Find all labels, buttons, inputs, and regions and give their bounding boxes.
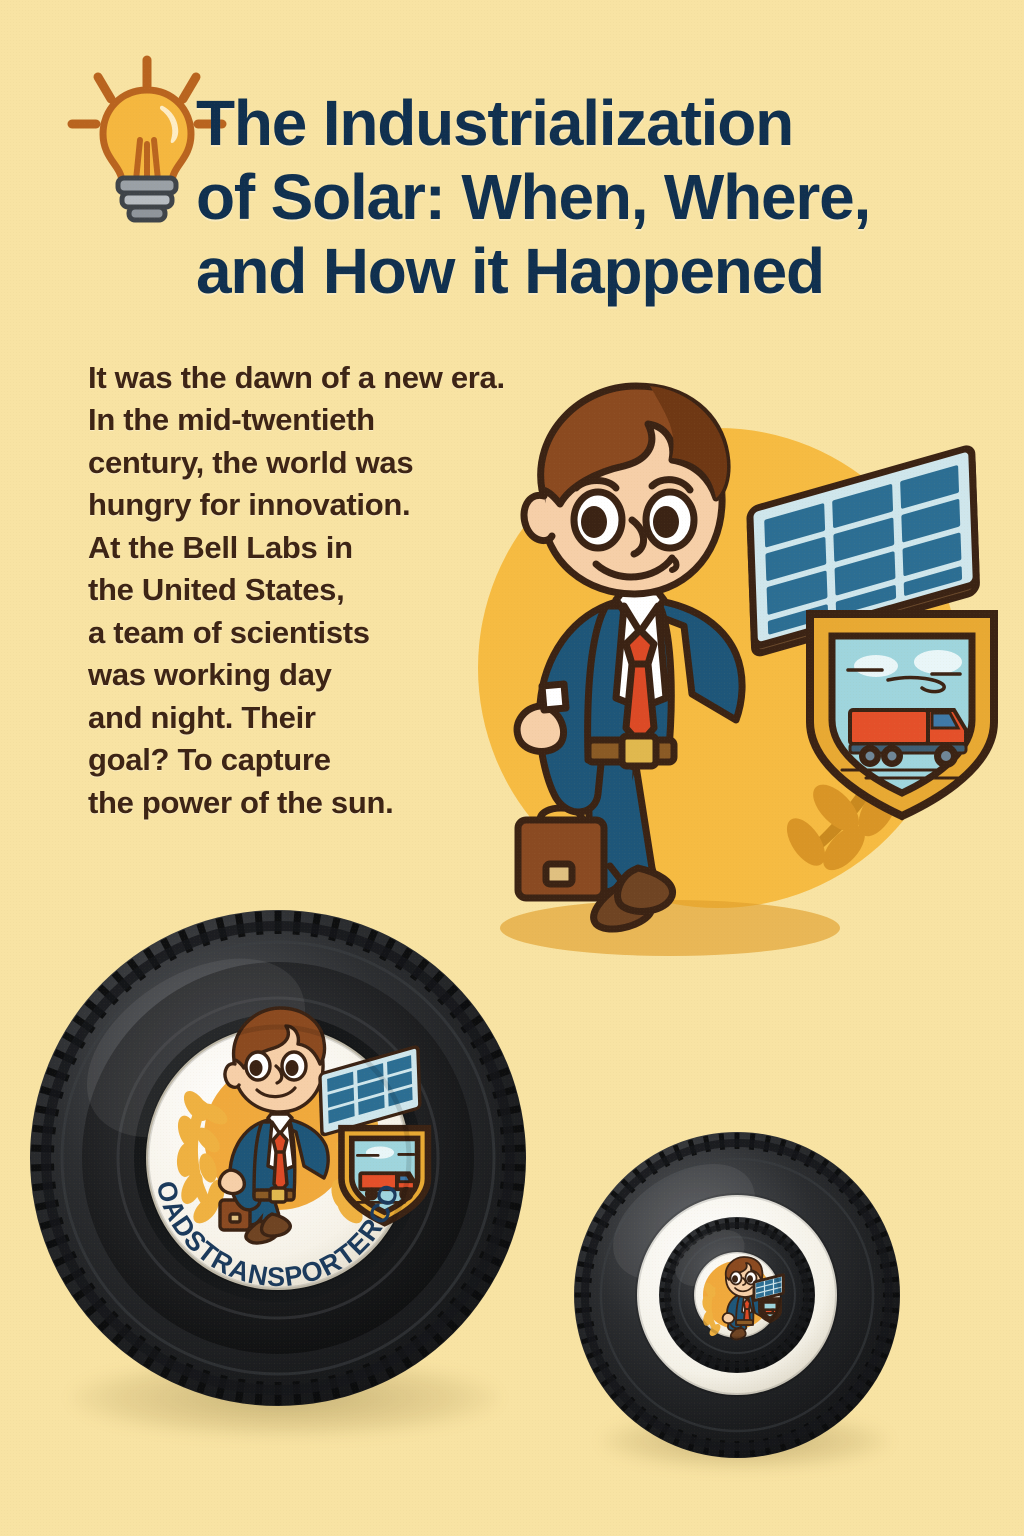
paragraph-line: was working day bbox=[88, 654, 498, 696]
cuff-left bbox=[542, 684, 566, 710]
briefcase-icon bbox=[518, 808, 604, 898]
mascot-illustration bbox=[420, 368, 985, 993]
page-title-line: of Solar: When, Where, bbox=[196, 161, 870, 233]
paragraph-line: In the mid-twentieth bbox=[88, 399, 498, 441]
paragraph-line: hungry for innovation. bbox=[88, 484, 498, 526]
paragraph-line: century, the world was bbox=[88, 442, 498, 484]
paragraph-line: and night. Their bbox=[88, 697, 498, 739]
paragraph-line: goal? To capture bbox=[88, 739, 498, 781]
paragraph-line: It was the dawn of a new era. bbox=[88, 357, 498, 399]
tire-small-nested[interactable] bbox=[572, 1130, 902, 1460]
page-title: The Industrialization of Solar: When, Wh… bbox=[196, 86, 986, 309]
hand-left bbox=[517, 706, 563, 751]
tie-body bbox=[626, 664, 654, 744]
paragraph-line: the United States, bbox=[88, 569, 498, 611]
poster-header: The Industrialization of Solar: When, Wh… bbox=[0, 0, 1024, 340]
belt-buckle bbox=[622, 736, 656, 766]
paragraph-line: a team of scientists bbox=[88, 612, 498, 654]
paragraph-line: the power of the sun. bbox=[88, 782, 498, 824]
ground-shadow bbox=[500, 900, 840, 956]
tire-large-branded[interactable]: ROADSTRANSPORTERCOM bbox=[28, 908, 528, 1408]
page-title-line: The Industrialization bbox=[196, 87, 793, 159]
body-paragraph: It was the dawn of a new era. In the mid… bbox=[88, 357, 498, 824]
bulb-base bbox=[118, 178, 176, 220]
bulb-filament bbox=[136, 140, 158, 180]
paragraph-line: At the Bell Labs in bbox=[88, 527, 498, 569]
page-title-line: and How it Happened bbox=[196, 235, 824, 307]
